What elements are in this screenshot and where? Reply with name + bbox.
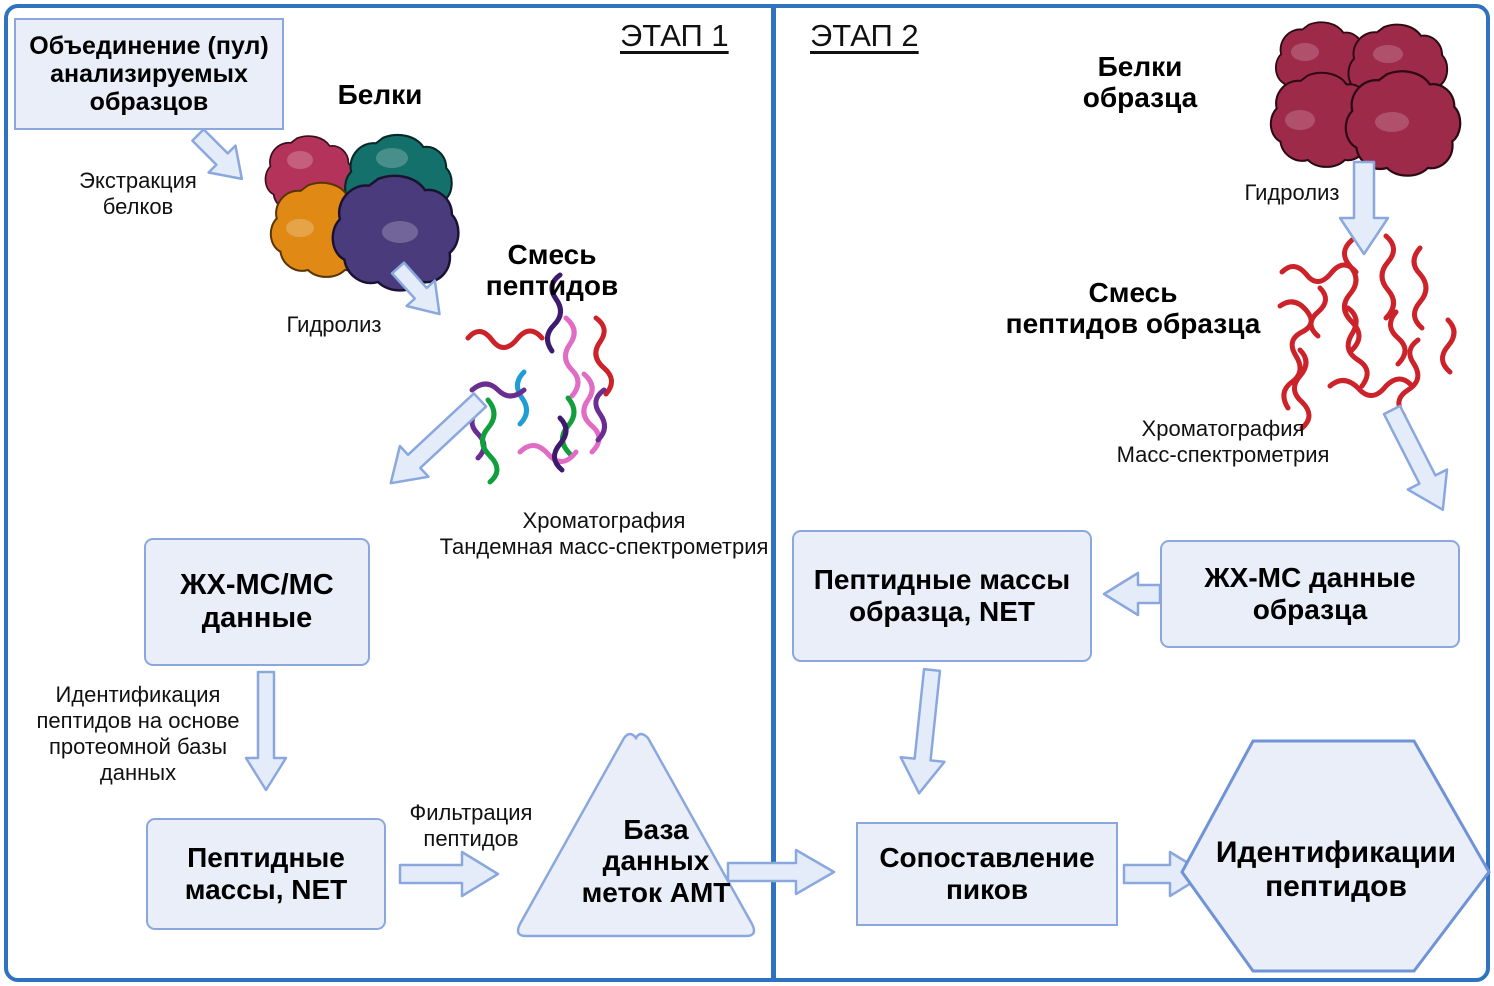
flow-arrows [185,122,1463,896]
hydrolysis-label-stage2: Гидролиз [1222,180,1362,206]
arrow-hydrolysis-2 [1340,162,1388,254]
amt-database-label[interactable]: База данных меток AMT [566,814,746,908]
peptide-mixture-stage2 [1280,236,1454,428]
arrow-masses-to-matching [897,668,954,796]
peptide-identifications-label[interactable]: Идентификации пептидов [1190,836,1482,903]
extraction-label: Экстракция белков [48,168,228,220]
sample-peptide-mixture-title: Смесь пептидов образца [978,278,1288,340]
pool-samples-box[interactable]: Объединение (пул) анализируемых образцов [14,18,284,130]
hydrolysis-label-stage1: Гидролиз [266,312,402,338]
lcmsms-data-box[interactable]: ЖХ-МС/МС данные [144,538,370,666]
arrow-lcms-to-masses [1104,573,1160,615]
stage-divider [771,6,776,980]
diagram-canvas: ЭТАП 1 ЭТАП 2 Объединение (пул) анализир… [0,0,1494,986]
arrow-chromatography-2 [1372,400,1462,520]
arrow-chromatography-1 [376,385,494,499]
stage-2-header: ЭТАП 2 [810,18,919,54]
protein-cluster-stage2 [1271,22,1460,175]
chromatography-label-stage1: Хроматография Тандемная масс-спектрометр… [430,508,778,560]
peptide-mixture-stage1 [468,275,612,482]
lcms-sample-data-box[interactable]: ЖХ-МС данные образца [1160,540,1460,648]
protein-cluster-stage1 [265,135,458,290]
sample-peptide-masses-box[interactable]: Пептидные массы образца, NET [792,530,1092,662]
proteins-title-stage1: Белки [300,80,460,111]
filtration-label: Фильтрация пептидов [388,800,554,852]
chromatography-label-stage2: Хроматография Масс-спектрометрия [1098,416,1348,468]
peptide-mixture-title-stage1: Смесь пептидов [452,240,652,302]
stage-1-header: ЭТАП 1 [620,18,729,54]
peak-matching-box[interactable]: Сопоставление пиков [856,822,1118,926]
arrow-filtration [400,852,498,896]
sample-proteins-title: Белки образца [1030,52,1250,114]
peptide-masses-net-box[interactable]: Пептидные массы, NET [146,818,386,930]
peptide-identification-label: Идентификация пептидов на основе протеом… [14,682,262,786]
